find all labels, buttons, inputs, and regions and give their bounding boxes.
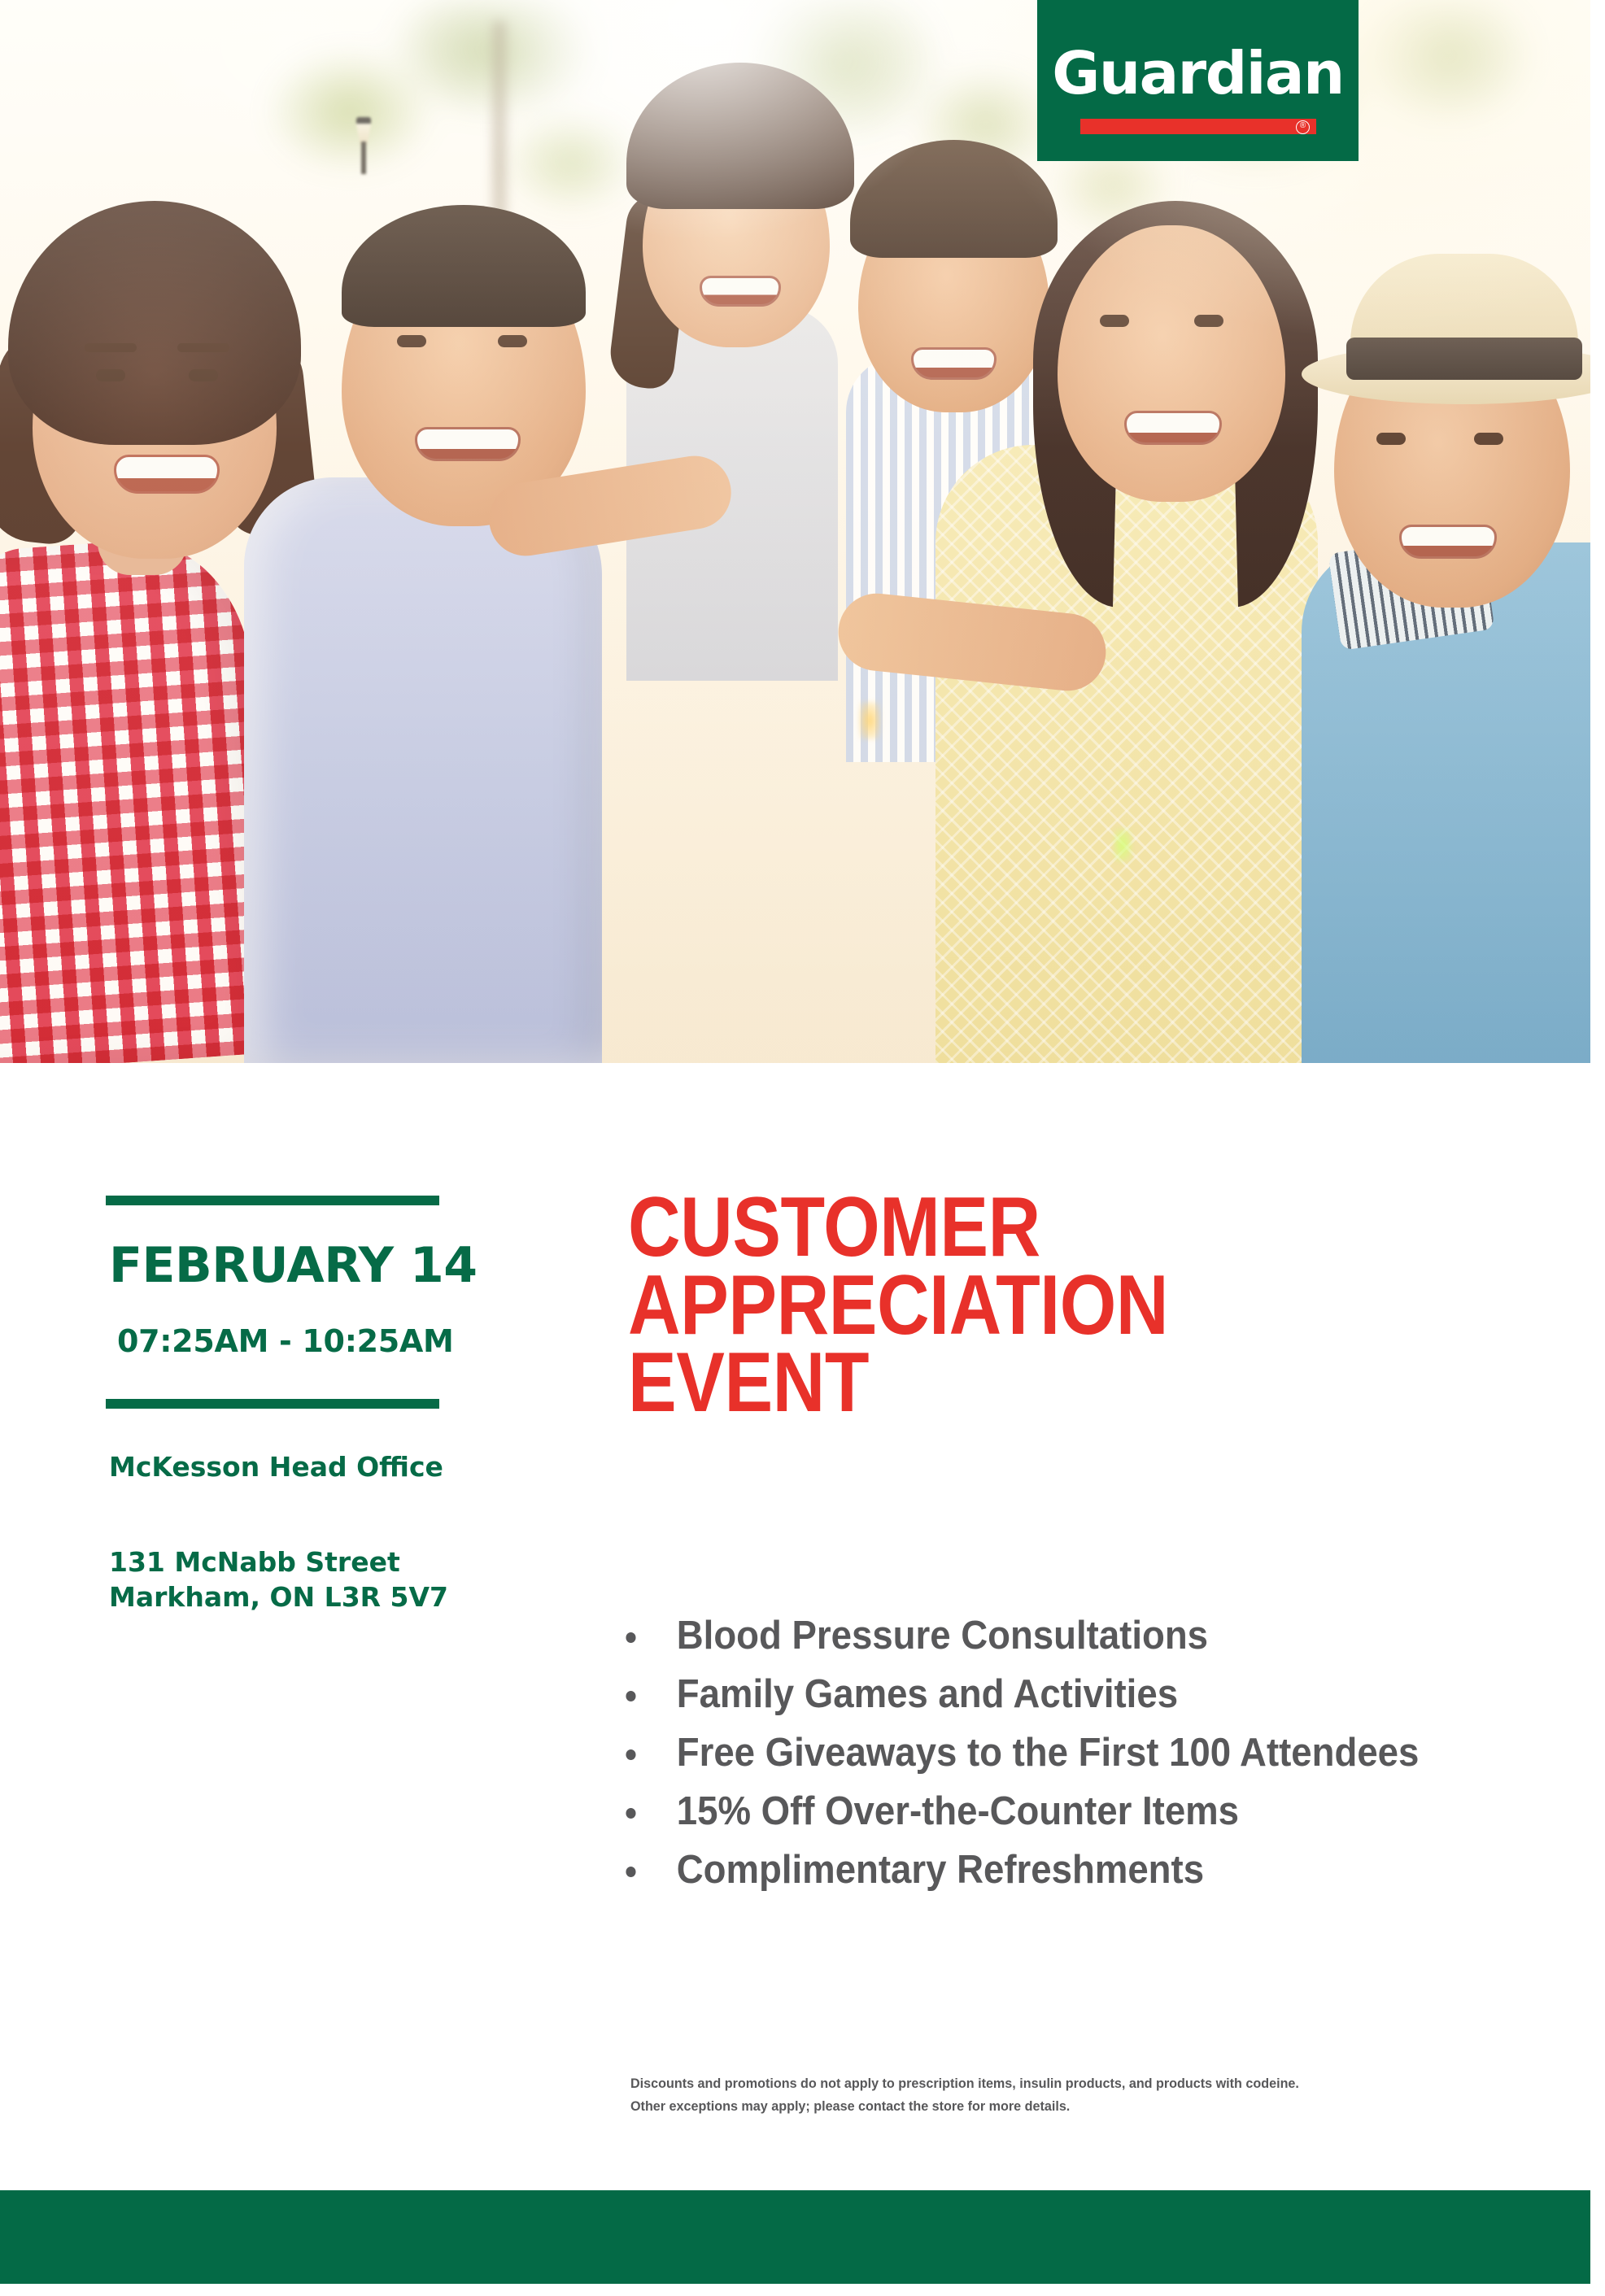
event-details-column: FEBRUARY 14 07:25AM - 10:25AM McKesson H… — [106, 1196, 488, 1614]
divider-rule-bottom — [106, 1399, 439, 1409]
person-father-smile — [415, 427, 521, 461]
page-title-line-1: CUSTOMER — [628, 1189, 1419, 1267]
person-grandmother-brow-right — [177, 343, 229, 352]
person-mother-eye-right — [1194, 315, 1223, 327]
person-grandmother-eye-left — [96, 369, 125, 381]
guardian-logo: Guardian ® — [1037, 0, 1359, 161]
person-girl-smile — [700, 276, 781, 307]
guardian-logo-wordmark: Guardian — [1052, 44, 1344, 102]
person-mother-eye-left — [1100, 315, 1129, 327]
poster-page: Guardian ® FEBRUARY 14 07:25AM - 10:25AM… — [0, 0, 1605, 2296]
list-item: 15% Off Over-the-Counter Items — [620, 1782, 1512, 1841]
event-time: 07:25AM - 10:25AM — [117, 1326, 488, 1357]
footer-green-bar — [0, 2190, 1590, 2284]
event-venue: McKesson Head Office — [109, 1453, 488, 1482]
event-address-line-2: Markham, ON L3R 5V7 — [109, 1580, 488, 1614]
list-item: Free Giveaways to the First 100 Attendee… — [620, 1723, 1512, 1782]
disclaimer-line-2: Other exceptions may apply; please conta… — [630, 2095, 1403, 2118]
person-grandfather-smile — [1399, 525, 1497, 559]
person-mother-smile — [1124, 411, 1222, 445]
person-mother-head — [1058, 225, 1285, 502]
divider-rule-top — [106, 1196, 439, 1205]
page-title-line-3: EVENT — [628, 1344, 1419, 1422]
list-item: Family Games and Activities — [620, 1665, 1512, 1723]
person-grandfather-eye-right — [1474, 433, 1503, 445]
page-title: CUSTOMER APPRECIATION EVENT — [628, 1189, 1419, 1422]
page-title-line-2: APPRECIATION — [628, 1267, 1419, 1345]
disclaimer: Discounts and promotions do not apply to… — [630, 2072, 1403, 2118]
event-date: FEBRUARY 14 — [109, 1241, 488, 1290]
person-father-eye-left — [397, 335, 426, 347]
person-father-body — [244, 477, 602, 1063]
person-grandmother-brow-left — [85, 343, 137, 352]
person-boy-smile — [911, 347, 997, 380]
disclaimer-line-1: Discounts and promotions do not apply to… — [630, 2072, 1403, 2095]
registered-trademark-icon: ® — [1296, 120, 1310, 134]
person-grandfather-eye-left — [1376, 433, 1406, 445]
person-grandmother-eye-right — [189, 369, 218, 381]
event-address-line-1: 131 McNabb Street — [109, 1545, 488, 1579]
offers-list: Blood Pressure Consultations Family Game… — [620, 1606, 1580, 1899]
list-item: Complimentary Refreshments — [620, 1841, 1512, 1899]
street-lamp — [355, 117, 373, 174]
person-grandmother-smile — [114, 455, 220, 494]
list-item: Blood Pressure Consultations — [620, 1606, 1512, 1665]
person-father-eye-right — [498, 335, 527, 347]
person-grandmother-body — [0, 533, 278, 1063]
guardian-logo-red-bar: ® — [1080, 119, 1316, 134]
person-grandfather-hat-band — [1346, 338, 1582, 380]
event-address: 131 McNabb Street Markham, ON L3R 5V7 — [109, 1545, 488, 1614]
